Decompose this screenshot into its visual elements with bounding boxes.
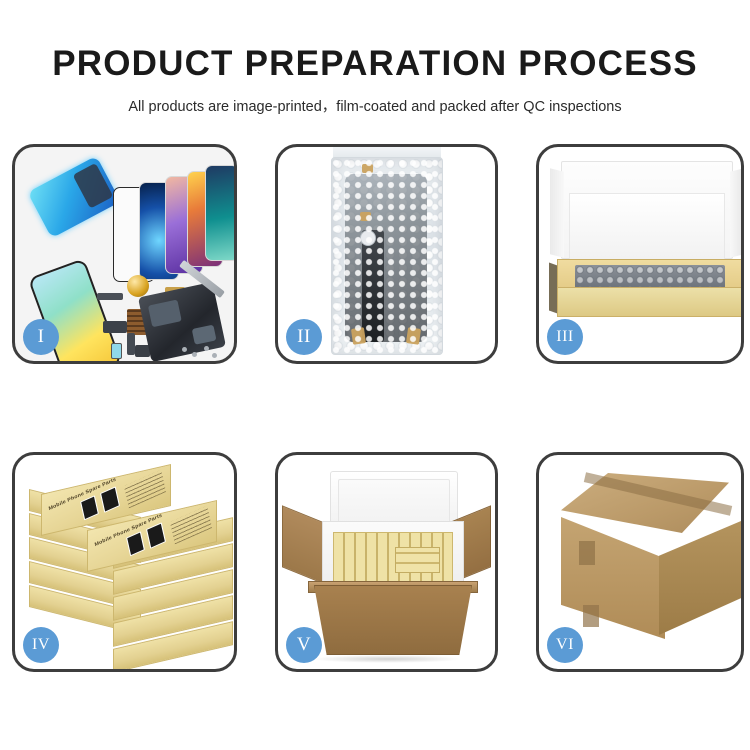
gold-component-icon [127,275,149,297]
step-badge-5: V [286,627,322,663]
tape-icon [405,327,420,345]
box-spec-text-icon [124,470,166,509]
process-row-2: Mobile Phone Spare Parts Mobile Phone Sp… [12,452,738,672]
spare-part-icon [111,343,122,359]
flex-cable-icon [362,230,384,342]
phone-lineup-icon [113,165,233,285]
blue-screen-part-icon [27,156,120,239]
header: PRODUCT PREPARATION PROCESS All products… [0,0,750,116]
spare-part-icon [127,333,135,355]
spare-part-icon [103,321,127,333]
box-spec-text-icon [170,506,212,545]
process-grid: I II [12,144,738,672]
box-window-icon [146,522,166,548]
foam-sheet-icon [569,193,725,265]
screws-icon [180,345,220,359]
tape-icon [360,212,371,221]
box-window-icon [80,495,99,520]
carton-left-face-icon [561,517,665,639]
tape-icon [350,327,365,345]
camera-hole-icon [360,230,376,246]
page-title: PRODUCT PREPARATION PROCESS [0,46,750,81]
step-panel-5[interactable]: V [275,452,498,672]
step-panel-2[interactable]: II [275,144,498,364]
carton-right-face-icon [659,515,741,635]
product-preparation-infographic: PRODUCT PREPARATION PROCESS All products… [0,0,750,750]
kraft-box-front-icon [557,287,741,317]
step-panel-3[interactable]: III [536,144,744,364]
packed-boxes-row-icon [395,547,440,573]
step-badge-1: I [23,319,59,355]
carton-tape-icon [583,605,599,627]
drop-shadow [312,655,462,663]
phone-display-teal-icon [205,165,234,261]
box-window-icon [100,486,120,512]
screen-assembly-icon [345,174,427,342]
page-subtitle: All products are image-printed，film-coat… [0,95,750,116]
step-badge-2: II [286,319,322,355]
step-badge-6: VI [547,627,583,663]
box-window-icon [126,531,145,556]
step-panel-4[interactable]: Mobile Phone Spare Parts Mobile Phone Sp… [12,452,237,672]
spare-part-icon [97,293,123,300]
bubble-wrap-bag-icon [331,157,443,355]
step-panel-1[interactable]: I [12,144,237,364]
carton-body-icon [314,585,472,655]
carton-tape-icon [579,541,595,565]
process-row-1: I II [12,144,738,364]
step-badge-3: III [547,319,583,355]
step-panel-6[interactable]: VI [536,452,744,672]
packed-boxes-icon [333,532,453,584]
step-badge-4: IV [23,627,59,663]
tape-icon [362,164,373,173]
